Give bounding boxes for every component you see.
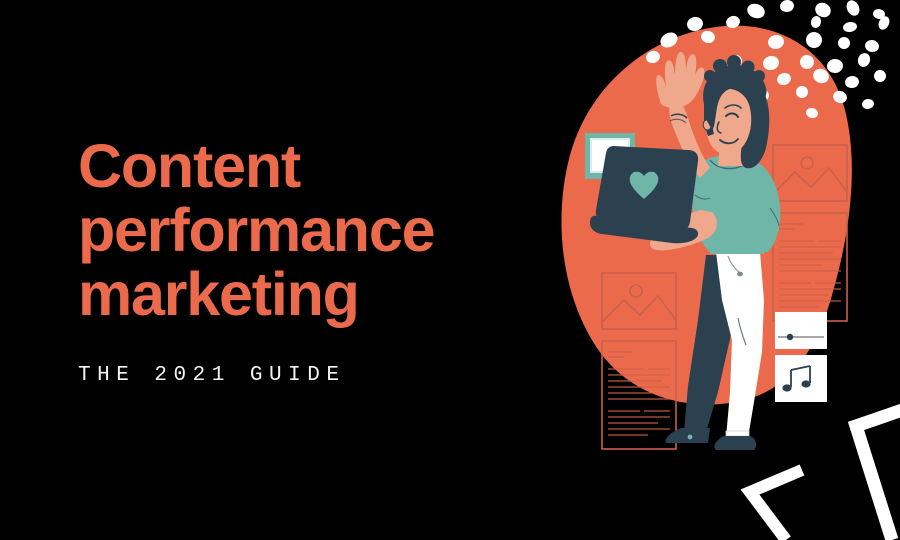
poster-canvas: Content performance marketing THE 2021 G… [0,0,900,540]
laptop [590,146,698,243]
text-block: Content performance marketing THE 2021 G… [78,134,508,387]
zigzag-accent [750,404,900,540]
music-note-card [775,355,827,400]
illustration [540,0,900,540]
page-title: Content performance marketing [78,134,508,326]
zigzag-accent-top-bar [775,396,827,402]
audio-slider-card [775,312,827,349]
subtitle: THE 2021 GUIDE [78,326,508,387]
